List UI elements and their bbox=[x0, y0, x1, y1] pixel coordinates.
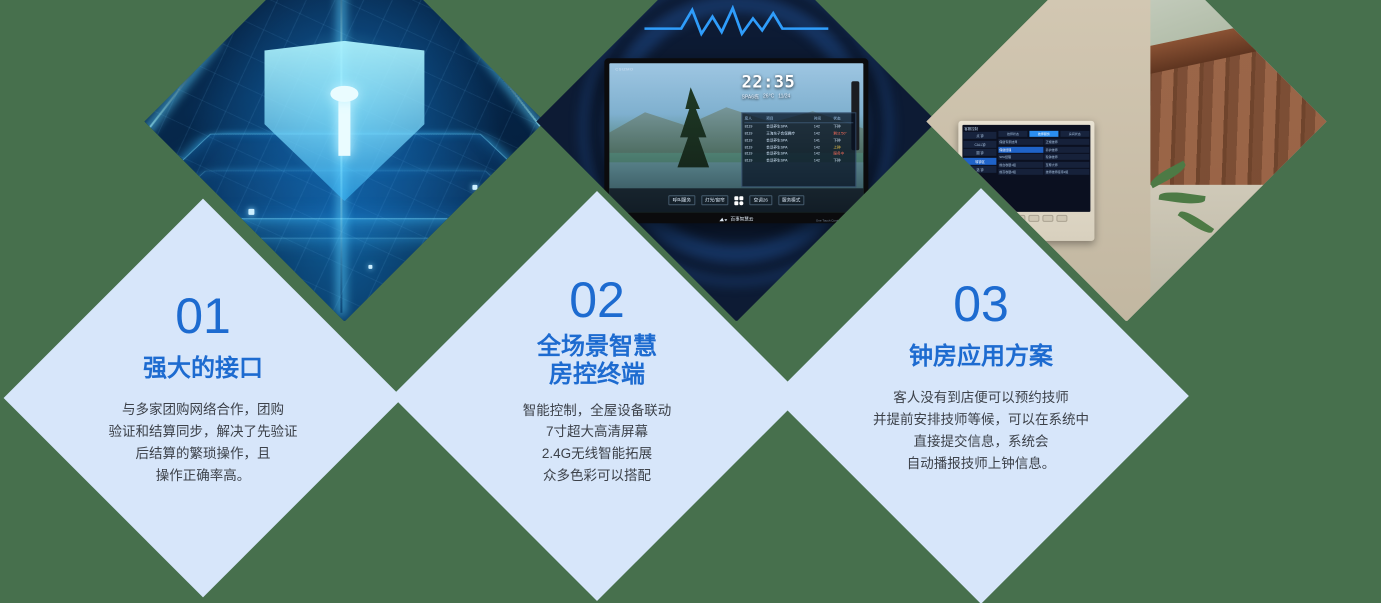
clock-time: 22:35 bbox=[742, 74, 856, 91]
panel-list-item[interactable]: 养护技师 bbox=[1045, 147, 1090, 153]
panel-list-item[interactable]: 前高收银2组 bbox=[998, 170, 1043, 176]
toolbar-button-1[interactable]: 灯光/窗帘 bbox=[701, 196, 729, 206]
card-body-2: 智能控制，全屋设备联动 7寸超大高清屏幕 2.4G无线智能拓展 众多色彩可以搭配 bbox=[523, 400, 672, 487]
tablet-logo: 百事智慧云 bbox=[720, 217, 754, 223]
panel-list[interactable]: 保健专家技师正规技师保健经理养护技师SPA经理轮钟技师前台收银1组至尊大师前高收… bbox=[998, 140, 1089, 176]
panel-side-item[interactable]: 圆 钟 bbox=[963, 150, 996, 157]
card-body-3: 客人没有到店便可以预约技师 并提前安排技师等候，可以在系统中 直接提交信息，系统… bbox=[873, 387, 1089, 474]
feature-card-3[interactable]: 03 钟房应用方案 客人没有到店便可以预约技师 并提前安排技师等候，可以在系统中… bbox=[773, 188, 1189, 603]
panel-title: 客服控制 bbox=[964, 127, 978, 132]
card-body-line: 验证和结算同步，解决了先验证 bbox=[108, 421, 297, 443]
feature-card-2[interactable]: 02 全场景智慧 房控终端 智能控制，全屋设备联动 7寸超大高清屏幕 2.4G无… bbox=[392, 191, 802, 601]
brand-mark-icon bbox=[720, 218, 728, 223]
panel-list-item[interactable]: SPA经理 bbox=[998, 155, 1043, 161]
toolbar-button-2[interactable]: 空调26 bbox=[750, 196, 772, 206]
card-number-2: 02 bbox=[569, 275, 625, 325]
card-body-line: 并提前安排技师等候，可以在系统中 bbox=[873, 409, 1089, 431]
panel-side-item[interactable]: 转钟区 bbox=[963, 158, 996, 165]
panel-side-menu[interactable]: 点 钟CALL钟圆 钟转钟区选 钟 bbox=[963, 133, 996, 174]
table-body: 8119会话养生SPA142下钟8119王海东子会保舞疗142剩11'50"81… bbox=[745, 124, 853, 165]
clock-widget: 22:35 SPA6栋 26°C 11/24 bbox=[742, 74, 856, 100]
panel-list-item[interactable]: 轮钟技师 bbox=[1045, 155, 1090, 161]
card-body-line: 后结算的繁琐操作，且 bbox=[108, 443, 297, 465]
card-body-line: 直接提交信息，系统会 bbox=[873, 431, 1089, 453]
clock-location: SPA6栋 bbox=[742, 93, 759, 100]
panel-side-item[interactable]: 选 钟 bbox=[963, 167, 996, 174]
col-header-2: 时间 bbox=[814, 116, 834, 123]
panel-key[interactable] bbox=[1056, 216, 1067, 223]
panel-tab[interactable]: 技师服务 bbox=[1029, 132, 1058, 138]
tablet-corner-text: One Touch Control For Your Comfort bbox=[816, 219, 865, 223]
card-body-line: 客人没有到店便可以预约技师 bbox=[873, 387, 1089, 409]
sparkle bbox=[473, 186, 478, 191]
tablet-device: CSIZMO 22:35 SPA6栋 26°C 11/24 bbox=[604, 59, 868, 224]
card-title-line: 房控终端 bbox=[537, 361, 657, 389]
sparkle bbox=[200, 9, 205, 14]
panel-tab[interactable]: 房间状态 bbox=[1060, 132, 1089, 138]
card-title-1: 强大的接口 bbox=[143, 355, 263, 383]
tablet-logo-text: 百事智慧云 bbox=[731, 217, 754, 223]
card-body-line: 操作正确率高。 bbox=[108, 465, 297, 487]
clock-temperature: 26°C bbox=[763, 94, 774, 100]
toolbar-button-0[interactable]: 呼叫服务 bbox=[669, 196, 695, 206]
room-status-table: 房人 项目 时间 状态 8119会话养生SPA142下钟8119王海东子会保舞疗… bbox=[742, 113, 856, 188]
panel-list-item[interactable]: 至尊大师 bbox=[1045, 162, 1090, 168]
panel-side-item[interactable]: 点 钟 bbox=[963, 133, 996, 140]
panel-tabs[interactable]: 技师状态技师服务房间状态 bbox=[998, 132, 1089, 138]
card-body-line: 自动播报技师上钟信息。 bbox=[873, 453, 1089, 475]
plant-leaf bbox=[1221, 236, 1266, 258]
card-title-3: 钟房应用方案 bbox=[909, 343, 1053, 371]
plant-leaf bbox=[1208, 268, 1249, 289]
pulse-waveform-icon bbox=[644, 5, 828, 39]
toolbar-button-3[interactable]: 服务模式 bbox=[778, 196, 804, 206]
sparkle bbox=[248, 210, 254, 216]
panel-list-item[interactable]: 前台收银1组 bbox=[998, 162, 1043, 168]
panel-key[interactable] bbox=[1042, 216, 1053, 223]
panel-tab[interactable]: 技师状态 bbox=[998, 132, 1027, 138]
table-row: 8119会话养生SPA142下钟 bbox=[745, 158, 853, 165]
card-body-line: 与多家团购网络合作，团购 bbox=[109, 399, 298, 421]
card-body-1: 与多家团购网络合作，团购 验证和结算同步，解决了先验证 后结算的繁琐操作，且 操… bbox=[108, 399, 297, 486]
col-header-1: 项目 bbox=[766, 116, 814, 123]
card-body-line: 2.4G无线智能拓展 bbox=[523, 443, 672, 465]
feature-card-1[interactable]: 01 强大的接口 与多家团购网络合作，团购 验证和结算同步，解决了先验证 后结算… bbox=[4, 199, 403, 598]
promo-banner: CSIZMO 22:35 SPA6栋 26°C 11/24 bbox=[0, 0, 1381, 603]
panel-list-item[interactable]: 保健经理 bbox=[998, 147, 1043, 153]
card-body-line: 众多色彩可以搭配 bbox=[523, 465, 672, 487]
card-number-1: 01 bbox=[175, 291, 231, 341]
panel-list-item[interactable]: 保健专家技师 bbox=[998, 140, 1043, 146]
card-title-line: 全场景智慧 bbox=[537, 333, 657, 361]
panel-key[interactable] bbox=[1028, 216, 1039, 223]
clock-meta: SPA6栋 26°C 11/24 bbox=[742, 93, 856, 100]
panel-side-item[interactable]: CALL钟 bbox=[963, 141, 996, 148]
card-body-line: 智能控制，全屋设备联动 bbox=[523, 400, 672, 422]
tablet-brand-label: CSIZMO bbox=[615, 67, 633, 72]
panel-list-item[interactable]: 技师技师接待2组 bbox=[1045, 170, 1090, 176]
apps-grid-icon[interactable] bbox=[735, 197, 744, 206]
tablet-bottom-toolbar: 呼叫服务 灯光/窗帘 空调26 服务模式 bbox=[609, 189, 863, 213]
clock-date: 11/24 bbox=[778, 94, 790, 100]
panel-list-item[interactable]: 正规技师 bbox=[1045, 140, 1090, 146]
tablet-screen[interactable]: CSIZMO 22:35 SPA6栋 26°C 11/24 bbox=[609, 64, 863, 213]
card-title-2: 全场景智慧 房控终端 bbox=[537, 333, 657, 390]
col-header-0: 房人 bbox=[745, 116, 767, 123]
card-body-line: 7寸超大高清屏幕 bbox=[523, 421, 672, 443]
col-header-3: 状态 bbox=[833, 116, 853, 123]
card-number-3: 03 bbox=[953, 279, 1009, 329]
